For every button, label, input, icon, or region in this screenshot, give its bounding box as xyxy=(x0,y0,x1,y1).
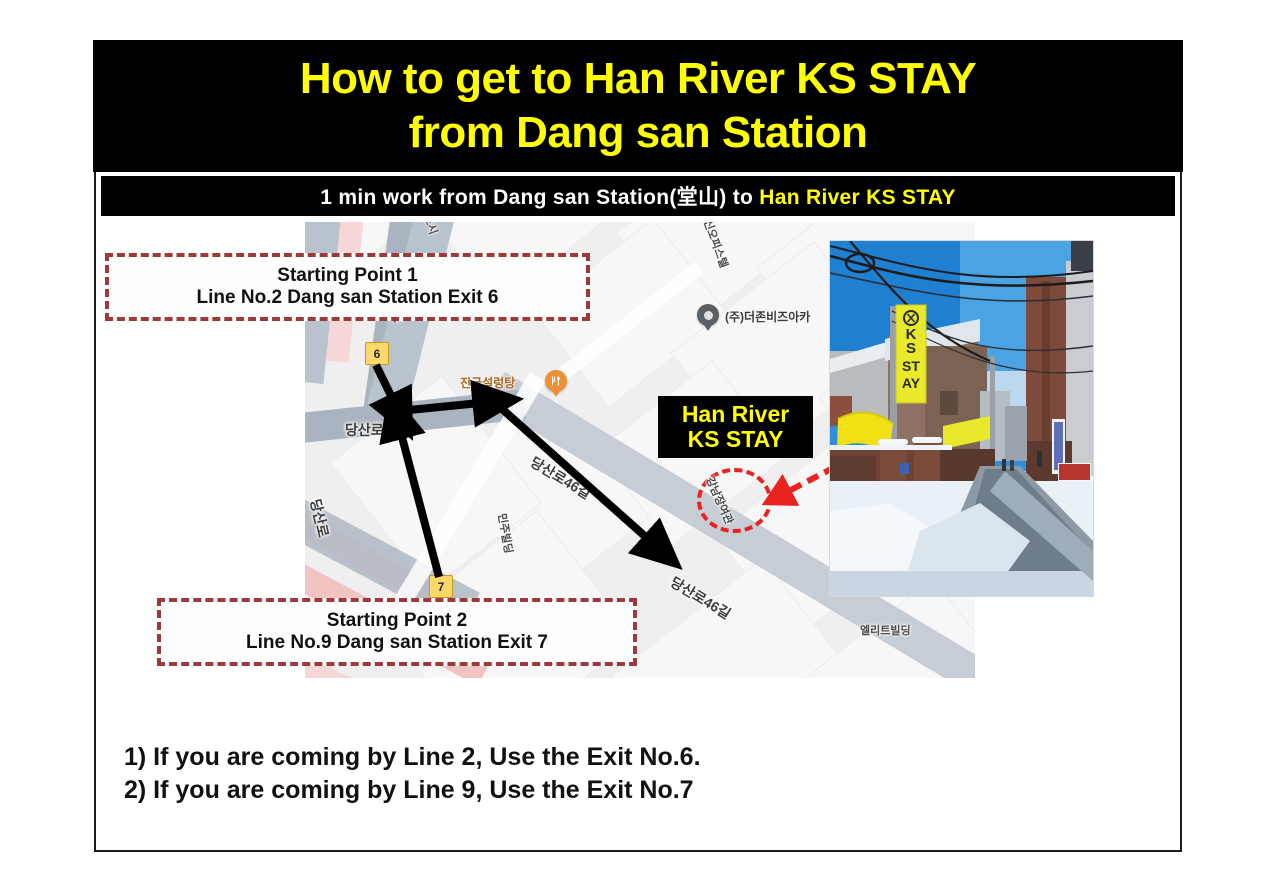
starting-point-2-box: Starting Point 2 Line No.9 Dang san Stat… xyxy=(157,598,637,666)
subtitle-highlight: Han River KS STAY xyxy=(759,186,956,209)
starting-point-1-title: Starting Point 1 xyxy=(277,265,417,287)
starting-point-2-title: Starting Point 2 xyxy=(327,610,467,632)
subtitle-prefix: 1 min work from Dang san Station(堂山) to xyxy=(320,186,759,209)
page-title: How to get to Han River KS STAY from Dan… xyxy=(300,52,976,159)
starting-point-1-box: Starting Point 1 Line No.2 Dang san Stat… xyxy=(105,253,590,321)
subtitle-bar: 1 min work from Dang san Station(堂山) to … xyxy=(99,174,1177,218)
location-photo: K S ST AY xyxy=(829,240,1094,597)
starting-point-2-detail: Line No.9 Dang san Station Exit 7 xyxy=(246,632,548,654)
instruction-line-2: 2) If you are coming by Line 9, Use the … xyxy=(124,774,701,807)
subtitle-text: 1 min work from Dang san Station(堂山) to … xyxy=(320,181,956,211)
svg-text:S: S xyxy=(906,340,916,357)
instructions-list: 1) If you are coming by Line 2, Use the … xyxy=(124,741,701,806)
svg-text:AY: AY xyxy=(902,375,921,391)
callout-line-1: Han River xyxy=(682,402,789,427)
instruction-line-1: 1) If you are coming by Line 2, Use the … xyxy=(124,741,701,774)
starting-point-1-detail: Line No.2 Dang san Station Exit 6 xyxy=(197,287,499,309)
title-bar: How to get to Han River KS STAY from Dan… xyxy=(93,40,1183,172)
ks-stay-callout: Han River KS STAY xyxy=(658,396,813,458)
callout-line-2: KS STAY xyxy=(688,427,784,452)
svg-text:ST: ST xyxy=(902,358,920,374)
